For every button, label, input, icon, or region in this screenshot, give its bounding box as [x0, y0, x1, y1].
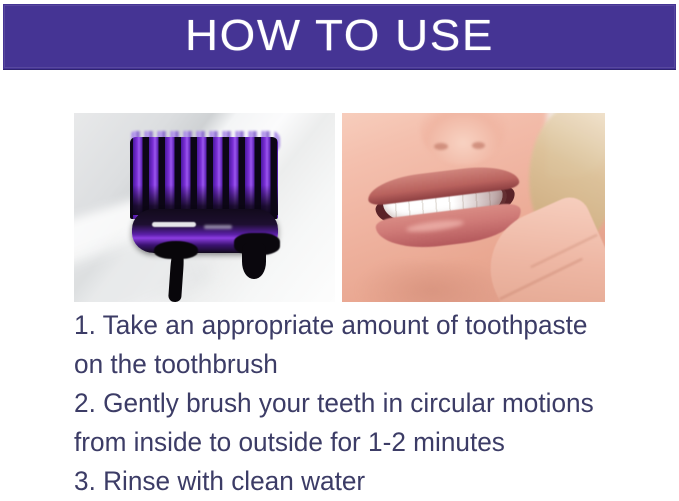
head-highlight: [152, 222, 196, 227]
photo-row: [74, 113, 605, 302]
instruction-line: from inside to outside for 1-2 minutes: [74, 423, 617, 462]
instruction-line: 2. Gently brush your teeth in circular m…: [74, 384, 617, 423]
toothpaste-drip-right: [242, 243, 266, 279]
page-title: HOW TO USE: [185, 14, 494, 60]
instructions-list: 1. Take an appropriate amount of toothpa…: [74, 306, 634, 501]
toothbrush-photo: [74, 113, 335, 302]
instruction-line: 3. Rinse with clean water: [74, 462, 617, 501]
nostril-right: [472, 142, 485, 149]
nostril-left: [434, 143, 448, 150]
instruction-line: on the toothbrush: [74, 345, 617, 384]
header-banner: HOW TO USE: [3, 4, 676, 69]
smiling-teeth-photo: [342, 113, 605, 302]
chin-shadow: [356, 262, 506, 302]
head-highlight-secondary: [204, 225, 232, 229]
how-to-use-infographic: HOW TO USE: [0, 0, 679, 498]
instruction-line: 1. Take an appropriate amount of toothpa…: [74, 306, 617, 345]
